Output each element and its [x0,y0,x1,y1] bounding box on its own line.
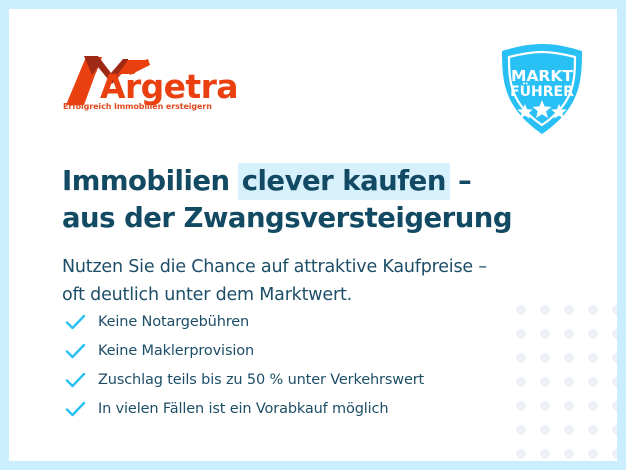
dot-cell [557,394,581,418]
dot-cell [605,442,617,461]
dot-cell [533,418,557,442]
dot [588,401,598,411]
dot-cell [605,346,617,370]
market-leader-badge: MARKT FÜHRER [498,42,586,136]
subheading-line-2: oft deutlich unter dem Marktwert. [62,281,542,309]
list-item-label: Zuschlag teils bis zu 50 % unter Verkehr… [98,372,424,388]
list-item: Zuschlag teils bis zu 50 % unter Verkehr… [64,365,534,394]
dot-cell [557,442,581,461]
list-item-label: Keine Maklerprovision [98,343,254,359]
argetra-logo: Argetra Erfolgreich Immobilien ersteiger… [62,53,262,121]
dot-cell [509,442,533,461]
headline-suffix: – [449,165,471,197]
promo-card: Argetra Erfolgreich Immobilien ersteiger… [9,9,617,461]
dot [564,425,574,435]
list-item: In vielen Fällen ist ein Vorabkauf mögli… [64,394,534,423]
dot [612,401,617,411]
dot-cell [557,346,581,370]
subheading-line-1: Nutzen Sie die Chance auf attraktive Kau… [62,253,542,281]
dot [540,329,550,339]
dot-cell [533,346,557,370]
check-icon [64,400,88,418]
dot [588,449,598,459]
dot-cell [605,370,617,394]
dot-cell [533,394,557,418]
headline-highlight: clever kaufen [238,163,450,200]
dot [540,449,550,459]
list-item: Keine Maklerprovision [64,336,534,365]
dot [612,305,617,315]
dot [588,377,598,387]
logo-tagline: Erfolgreich Immobilien ersteigern [63,102,212,111]
dot-cell [605,298,617,322]
dot [516,449,526,459]
dot-cell [581,394,605,418]
dot [588,353,598,363]
dot-cell [605,322,617,346]
dot-cell [533,322,557,346]
dot-cell [581,418,605,442]
dot-cell [581,298,605,322]
check-icon [64,313,88,331]
dot-cell [557,418,581,442]
badge-line2: FÜHRER [510,82,574,100]
dot [540,353,550,363]
dot [612,329,617,339]
dot [564,305,574,315]
dot [588,425,598,435]
dot-cell [581,370,605,394]
dot [540,377,550,387]
dot [612,425,617,435]
dot [564,377,574,387]
headline-line-2: aus der Zwangsversteigerung [62,200,532,237]
dot [588,305,598,315]
dot-cell [581,442,605,461]
dot-cell [557,370,581,394]
dot [612,449,617,459]
dot [564,449,574,459]
dot-cell [557,298,581,322]
dot [540,425,550,435]
check-icon [64,342,88,360]
check-icon [64,371,88,389]
benefits-checklist: Keine Notargebühren Keine Maklerprovisio… [64,307,534,423]
dot [588,329,598,339]
badge-line1: MARKT [511,67,573,85]
page-headline: Immobilien clever kaufen – aus der Zwang… [62,163,532,237]
list-item-label: Keine Notargebühren [98,314,249,330]
dot [612,353,617,363]
dot-cell [581,322,605,346]
dot-cell [605,418,617,442]
headline-line-1: Immobilien clever kaufen – [62,163,532,200]
promo-card-page: Argetra Erfolgreich Immobilien ersteiger… [0,0,626,470]
dot [564,401,574,411]
dot-cell [557,322,581,346]
dot [564,353,574,363]
list-item: Keine Notargebühren [64,307,534,336]
list-item-label: In vielen Fällen ist ein Vorabkauf mögli… [98,401,388,417]
page-subheading: Nutzen Sie die Chance auf attraktive Kau… [62,253,542,309]
dot [612,377,617,387]
dot-cell [533,442,557,461]
dot-cell [533,370,557,394]
dot [516,425,526,435]
dot-cell [605,394,617,418]
dot-cell [581,346,605,370]
logo-wordmark: Argetra [100,70,238,103]
dot [540,401,550,411]
dot [564,329,574,339]
headline-prefix: Immobilien [62,165,239,197]
